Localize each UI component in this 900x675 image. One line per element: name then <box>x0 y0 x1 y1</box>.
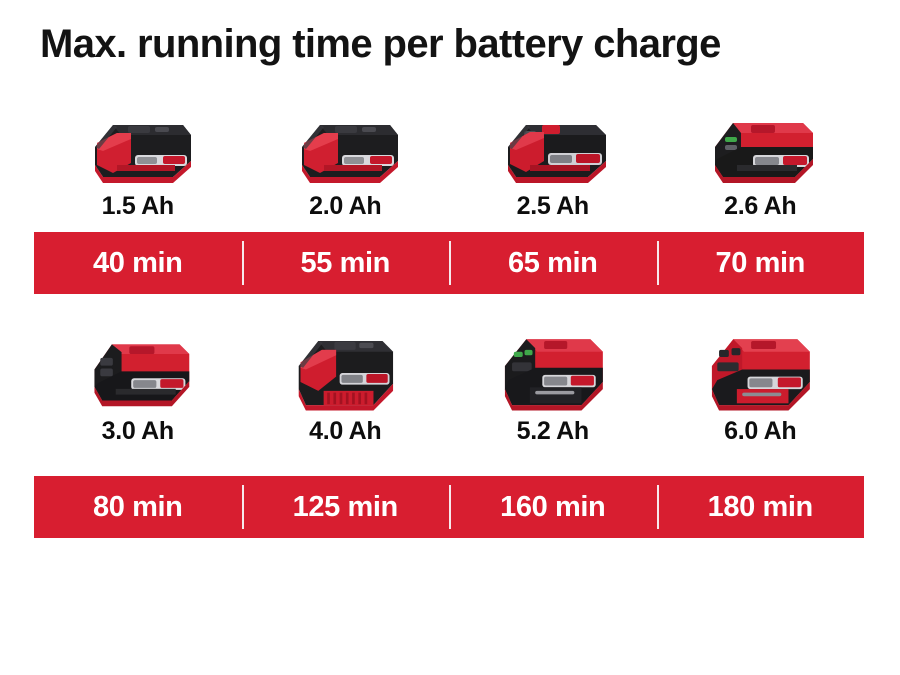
runtime-cell-2-2[interactable]: 125 min <box>242 476 450 538</box>
battery-cell-1-1[interactable]: 1.5 Ah <box>34 100 242 220</box>
runtime-label: 160 min <box>500 492 605 523</box>
runtime-bar-1: 40 min 55 min 65 min 70 min <box>34 232 864 294</box>
runtime-cell-1-4[interactable]: 70 min <box>657 232 865 294</box>
battery-cell-2-2[interactable]: 4.0 Ah <box>242 325 450 445</box>
battery-pack-icon <box>280 103 410 189</box>
battery-cell-2-1[interactable]: 3.0 Ah <box>34 325 242 445</box>
runtime-label: 125 min <box>293 492 398 523</box>
battery-capacity-label: 6.0 Ah <box>724 418 796 445</box>
battery-capacity-label: 2.5 Ah <box>517 193 589 220</box>
battery-row-1: 1.5 Ah 2.0 Ah <box>34 100 864 220</box>
runtime-cell-2-3[interactable]: 160 min <box>449 476 657 538</box>
battery-pack-icon <box>73 103 203 189</box>
battery-cell-1-3[interactable]: 2.5 Ah <box>449 100 657 220</box>
runtime-label: 55 min <box>301 248 390 279</box>
battery-capacity-label: 2.6 Ah <box>724 193 796 220</box>
battery-cell-2-4[interactable]: 6.0 Ah <box>657 325 865 445</box>
battery-pack-icon <box>481 325 625 414</box>
battery-pack-icon <box>695 103 825 189</box>
battery-pack-icon <box>275 325 415 414</box>
battery-capacity-label: 2.0 Ah <box>309 193 381 220</box>
runtime-label: 70 min <box>716 248 805 279</box>
runtime-label: 80 min <box>93 492 182 523</box>
runtime-bar-2: 80 min 125 min 160 min 180 min <box>34 476 864 538</box>
runtime-cell-1-1[interactable]: 40 min <box>34 232 242 294</box>
battery-pack-icon <box>688 325 832 414</box>
runtime-label: 65 min <box>508 248 597 279</box>
runtime-label: 180 min <box>708 492 813 523</box>
runtime-label: 40 min <box>93 248 182 279</box>
battery-capacity-label: 1.5 Ah <box>102 193 174 220</box>
runtime-cell-2-4[interactable]: 180 min <box>657 476 865 538</box>
battery-pack-icon <box>73 325 203 414</box>
runtime-cell-1-3[interactable]: 65 min <box>449 232 657 294</box>
infographic-page: Max. running time per battery charge <box>0 0 900 675</box>
battery-capacity-label: 5.2 Ah <box>517 418 589 445</box>
page-title: Max. running time per battery charge <box>40 22 880 66</box>
battery-cell-2-3[interactable]: 5.2 Ah <box>449 325 657 445</box>
battery-row-2: 3.0 Ah <box>34 325 864 445</box>
battery-capacity-label: 4.0 Ah <box>309 418 381 445</box>
battery-cell-1-2[interactable]: 2.0 Ah <box>242 100 450 220</box>
runtime-cell-2-1[interactable]: 80 min <box>34 476 242 538</box>
battery-capacity-label: 3.0 Ah <box>102 418 174 445</box>
runtime-cell-1-2[interactable]: 55 min <box>242 232 450 294</box>
battery-cell-1-4[interactable]: 2.6 Ah <box>657 100 865 220</box>
battery-pack-icon <box>488 103 618 189</box>
